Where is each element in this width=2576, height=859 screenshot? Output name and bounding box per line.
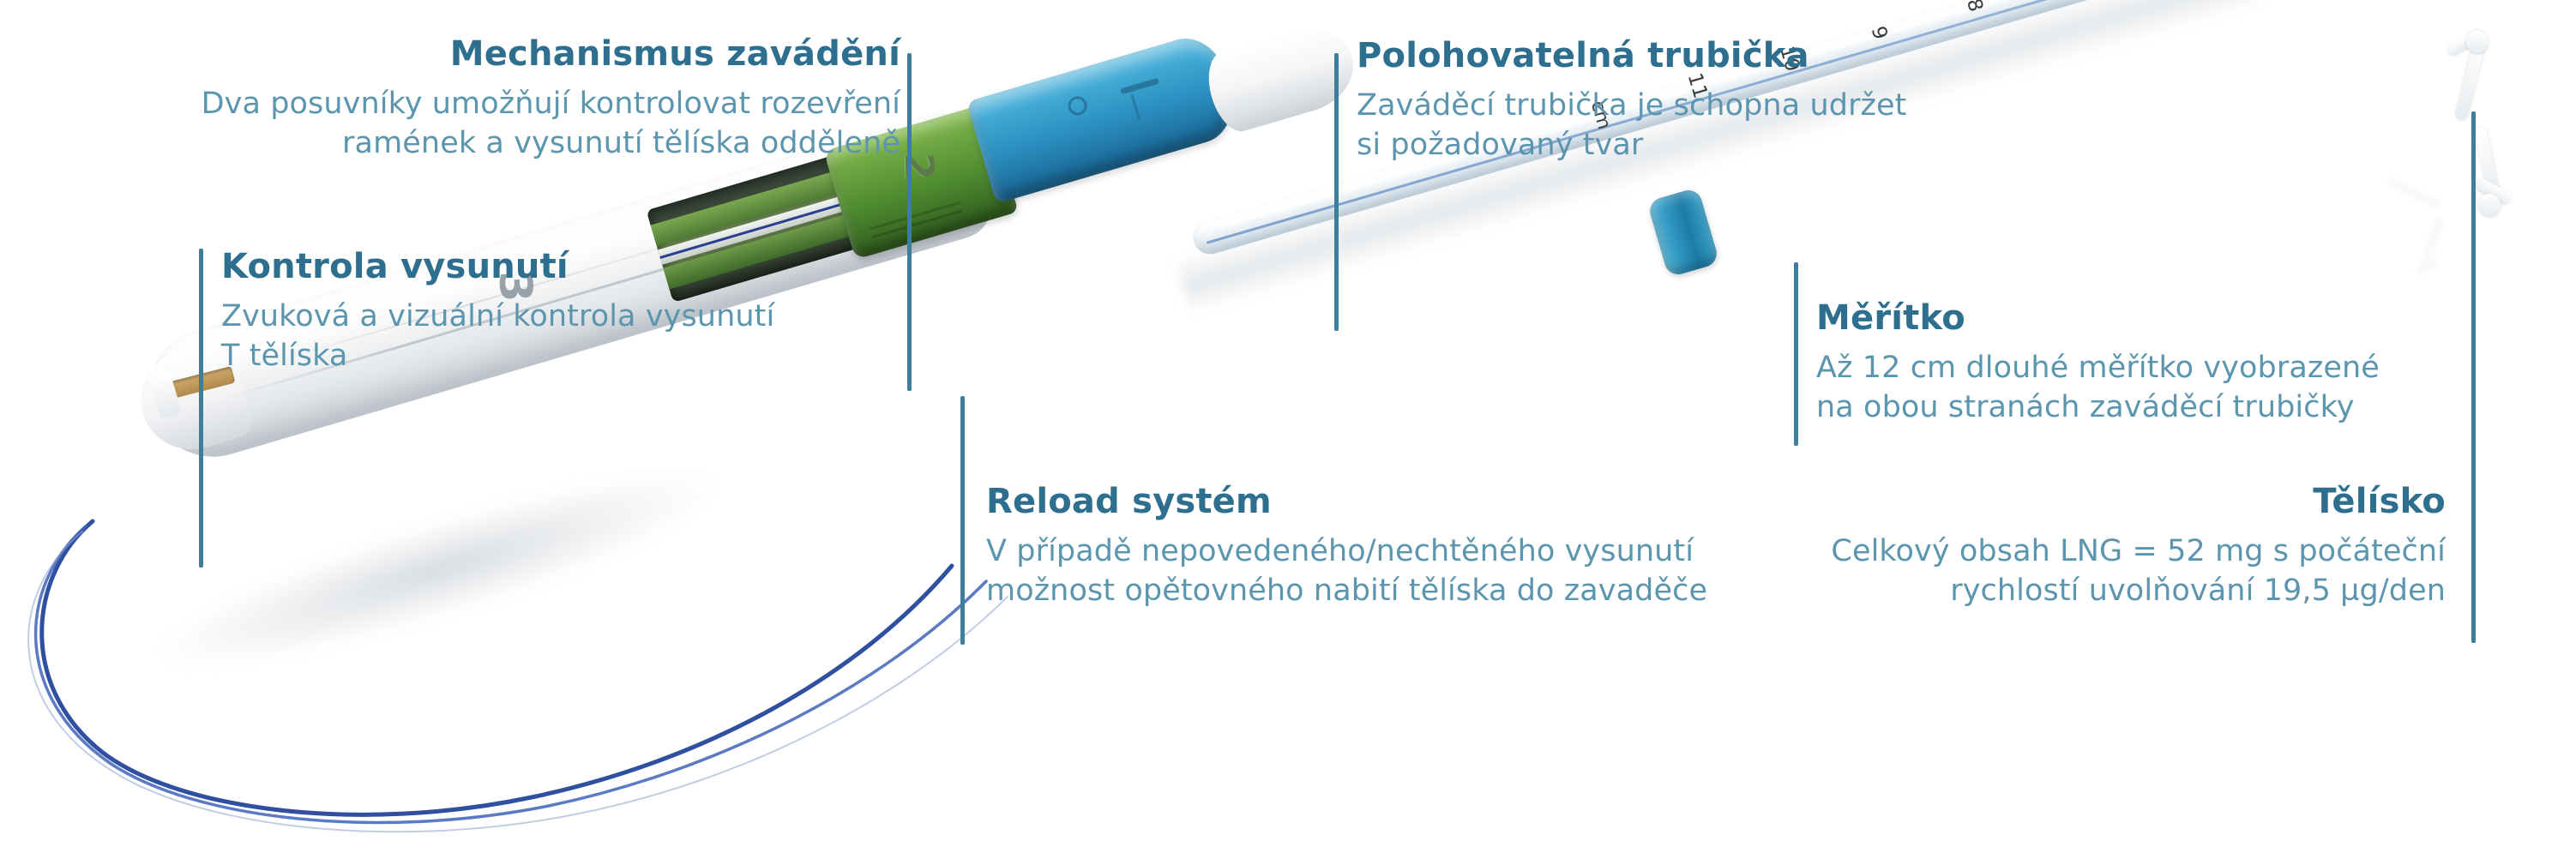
green-slider-grip-1 — [872, 209, 963, 238]
callout-body-line: V případě nepovedeného/nechtěného vysunu… — [986, 532, 1775, 572]
callout-title-kontrola-vysunuti: Kontrola vysunutí — [221, 247, 873, 287]
removal-threads — [0, 514, 1080, 857]
handle-drop-shadow — [145, 440, 730, 700]
leader-line-polohovatelna-trubicka — [1334, 53, 1339, 331]
t-arm-upper — [2455, 38, 2487, 121]
callout-body-line: ramének a vysunutí tělíska odděleně — [103, 124, 900, 164]
callout-meritko: Měřítko Až 12 cm dlouhé měřítko vyobraze… — [1816, 298, 2519, 427]
green-slider-grip-2 — [870, 201, 960, 231]
callout-body-kontrola-vysunuti: Zvuková a vizuální kontrola vysunutí T t… — [221, 297, 873, 375]
callout-body-reload-system: V případě nepovedeného/nechtěného vysunu… — [986, 532, 1775, 610]
callout-body-line: na obou stranách zaváděcí trubičky — [1816, 388, 2519, 428]
callout-body-polohovatelna-trubicka: Zaváděcí trubička je schopna udržet si p… — [1357, 87, 2043, 165]
t-body-iud — [2392, 34, 2576, 231]
callout-body-line: Zvuková a vizuální kontrola vysunutí — [221, 297, 873, 337]
blue-slider-dash — [1120, 78, 1159, 95]
blue-slider-tick — [1130, 94, 1140, 120]
leader-line-reload-system — [960, 396, 965, 645]
callout-body-line: Až 12 cm dlouhé měřítko vyobrazené — [1816, 349, 2519, 388]
callout-title-telisko: Tělísko — [1681, 482, 2446, 522]
leader-line-kontrola-vysunuti — [199, 249, 203, 568]
scale-mark-8: 8 — [1962, 0, 1987, 15]
handle-nose — [1201, 17, 1363, 137]
callout-telisko: Tělísko Celkový obsah LNG = 52 mg s počá… — [1681, 482, 2446, 610]
blue-slider-dot — [1066, 94, 1089, 117]
callout-body-telisko: Celkový obsah LNG = 52 mg s počáteční ry… — [1681, 532, 2446, 610]
callout-title-reload-system: Reload systém — [986, 482, 1775, 522]
callout-title-polohovatelna-trubicka: Polohovatelná trubička — [1357, 36, 2043, 76]
callout-body-meritko: Až 12 cm dlouhé měřítko vyobrazené na ob… — [1816, 349, 2519, 427]
leader-line-meritko — [1794, 262, 1798, 446]
green-slider-marking-2: 2 — [896, 153, 943, 181]
callout-body-line: Zaváděcí trubička je schopna udržet — [1357, 87, 2043, 126]
t-arm-upper-bend — [2445, 27, 2485, 57]
callout-title-meritko: Měřítko — [1816, 298, 2519, 339]
callout-reload-system: Reload systém V případě nepovedeného/nec… — [986, 482, 1775, 610]
callout-body-line: si požadovaný tvar — [1357, 126, 2043, 165]
thread-bead — [213, 381, 235, 409]
callout-body-line: možnost opětovného nabití tělíska do zav… — [986, 572, 1775, 611]
leader-line-mechanismus-zavadeni — [907, 53, 912, 391]
callout-body-line: T tělíska — [221, 337, 873, 376]
thread-slot-cap — [148, 370, 183, 419]
callout-body-line: rychlostí uvolňování 19,5 µg/den — [1681, 572, 2446, 611]
callout-polohovatelna-trubicka: Polohovatelná trubička Zaváděcí trubička… — [1357, 36, 2043, 165]
callout-kontrola-vysunuti: Kontrola vysunutí Zvuková a vizuální kon… — [221, 247, 873, 375]
blue-slider — [966, 29, 1243, 204]
callout-body-line: Dva posuvníky umožňují kontrolovat rozev… — [103, 85, 900, 124]
callout-mechanismus-zavadeni: Mechanismus zavádění Dva posuvníky umožň… — [103, 34, 900, 163]
t-body-reflection — [2367, 180, 2530, 309]
depth-stop-flange — [1646, 187, 1719, 278]
callout-body-line: Celkový obsah LNG = 52 mg s počáteční — [1681, 532, 2446, 572]
t-arm-lower-tip — [2478, 194, 2501, 216]
callout-body-mechanismus-zavadeni: Dva posuvníky umožňují kontrolovat rozev… — [103, 85, 900, 163]
t-arm-upper-tip — [2466, 31, 2489, 53]
t-arm-lower-bend — [2474, 177, 2513, 205]
callout-title-mechanismus-zavadeni: Mechanismus zavádění — [103, 34, 900, 75]
infographic-canvas: 3 2 cm 1 — [0, 0, 2576, 859]
green-rail-upper — [651, 170, 846, 247]
t-arm-lower — [2474, 126, 2501, 201]
